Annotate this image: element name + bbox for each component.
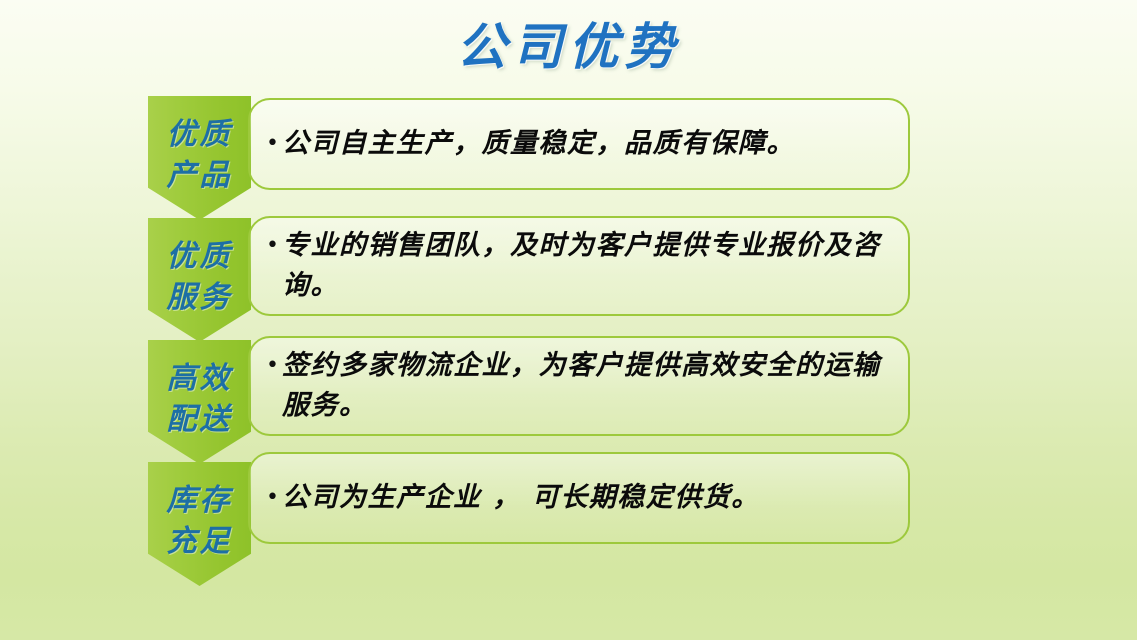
- advantage-text-1: 公司自主生产，质量稳定，品质有保障。: [282, 124, 890, 164]
- bullet-row-1: • 公司自主生产，质量稳定，品质有保障。: [266, 124, 890, 164]
- bullet-icon: •: [266, 346, 279, 386]
- advantage-box-1: • 公司自主生产，质量稳定，品质有保障。: [248, 98, 910, 190]
- bullet-icon: •: [266, 226, 279, 266]
- chevron-column: 优质 产品 优质 服务 高效 配送 库存 充足: [148, 96, 251, 588]
- advantage-box-3: • 签约多家物流企业，为客户提供高效安全的运输服务。: [248, 336, 910, 436]
- bullet-row-2: • 专业的销售团队，及时为客户提供专业报价及咨询。: [266, 226, 890, 306]
- page-title: 公司优势: [0, 18, 1137, 76]
- bullet-icon: •: [266, 478, 279, 518]
- bullet-row-4: • 公司为生产企业 ， 可长期稳定供货。: [266, 478, 890, 518]
- chevron-shape-3: [148, 340, 251, 464]
- advantage-text-3: 签约多家物流企业，为客户提供高效安全的运输服务。: [282, 346, 890, 426]
- bullet-icon: •: [266, 124, 279, 164]
- advantage-text-4: 公司为生产企业 ， 可长期稳定供货。: [282, 478, 890, 518]
- chevron-shape-1: [148, 96, 251, 220]
- advantage-box-4: • 公司为生产企业 ， 可长期稳定供货。: [248, 452, 910, 544]
- slide-canvas: 公司优势 优质 产品 优质 服务 高效 配送 库存 充足 • 公司自主生产，质量…: [0, 0, 1137, 640]
- chevron-shape-4: [148, 462, 251, 586]
- advantage-text-2: 专业的销售团队，及时为客户提供专业报价及咨询。: [282, 226, 890, 306]
- chevron-shape-2: [148, 218, 251, 342]
- bullet-row-3: • 签约多家物流企业，为客户提供高效安全的运输服务。: [266, 346, 890, 426]
- advantage-box-2: • 专业的销售团队，及时为客户提供专业报价及咨询。: [248, 216, 910, 316]
